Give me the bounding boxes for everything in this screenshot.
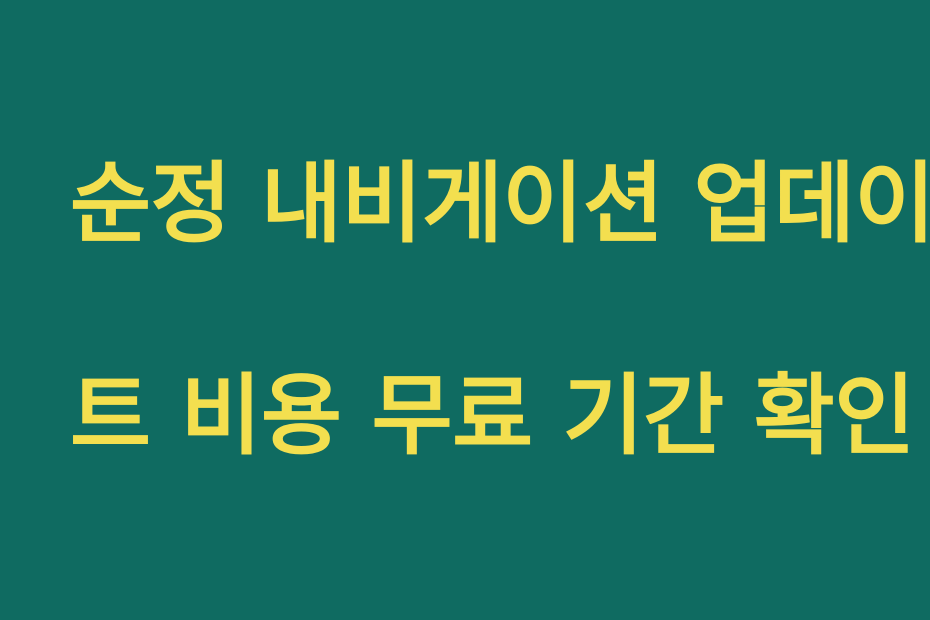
headline-line-1: 순정 내비게이션 업데이 bbox=[70, 151, 860, 257]
headline-text: 순정 내비게이션 업데이 트 비용 무료 기간 확인 bbox=[70, 45, 860, 575]
banner-canvas: 순정 내비게이션 업데이 트 비용 무료 기간 확인 bbox=[0, 0, 930, 620]
headline-line-2: 트 비용 무료 기간 확인 bbox=[70, 363, 860, 469]
